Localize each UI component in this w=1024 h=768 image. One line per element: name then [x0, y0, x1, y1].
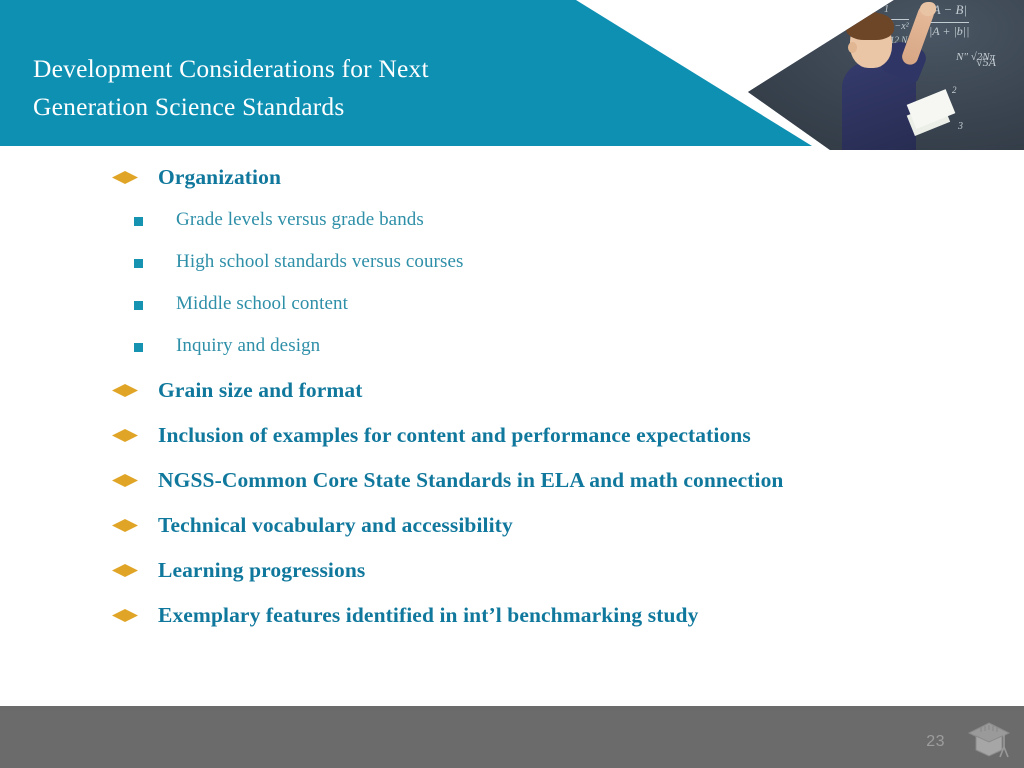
diamond-bullet-icon [112, 384, 138, 397]
square-bullet-icon [134, 301, 143, 310]
bullet-text: NGSS-Common Core State Standards in ELA … [158, 463, 784, 497]
chalk-mark: 3 [958, 122, 963, 132]
diamond-bullet-icon [112, 474, 138, 487]
bullet-item-level2: Inquiry and design [0, 331, 1024, 373]
bullet-text: Organization [158, 160, 281, 194]
diamond-bullet-icon [112, 609, 138, 622]
bullet-text: Grain size and format [158, 373, 363, 407]
bullet-text: Technical vocabulary and accessibility [158, 508, 513, 542]
square-bullet-icon [134, 343, 143, 352]
slide-body-bullet-list: OrganizationGrade levels versus grade ba… [0, 160, 1024, 700]
bullet-text: Exemplary features identified in int’l b… [158, 598, 698, 632]
square-bullet-icon [134, 259, 143, 268]
bullet-item-level1: NGSS-Common Core State Standards in ELA … [0, 463, 1024, 508]
person-hand [920, 2, 936, 16]
chalk-mark: 3z² [787, 16, 800, 30]
bullet-item-level1: Organization [0, 160, 1024, 205]
diamond-bullet-icon [112, 171, 138, 184]
chalk-mark: (x − 32) [736, 6, 782, 20]
bullet-item-level1: Exemplary features identified in int’l b… [0, 598, 1024, 643]
page-title: Development Considerations for Next Gene… [33, 50, 553, 125]
presentation-slide: Development Considerations for Next Gene… [0, 0, 1024, 768]
person-ear [848, 42, 857, 53]
bullet-text: Inquiry and design [176, 331, 320, 360]
bullet-item-level1: Technical vocabulary and accessibility [0, 508, 1024, 553]
diamond-bullet-icon [112, 519, 138, 532]
chalk-mark: 2 [952, 86, 957, 95]
chalk-mark: 2x² +1 [787, 2, 816, 13]
diamond-bullet-icon [112, 564, 138, 577]
slide-header: Development Considerations for Next Gene… [0, 0, 1024, 152]
bullet-text: Learning progressions [158, 553, 365, 587]
bullet-text: Middle school content [176, 289, 348, 318]
chalk-mark: P ( [754, 46, 772, 61]
bullet-item-level1: Inclusion of examples for content and pe… [0, 418, 1024, 463]
chalk-mark: |A + |b|| [929, 22, 969, 37]
chalk-mark: 1 [884, 5, 889, 15]
bullet-item-level1: Grain size and format [0, 373, 1024, 418]
square-bullet-icon [134, 217, 143, 226]
bullet-item-level2: Middle school content [0, 289, 1024, 331]
graduation-cap-logo [966, 720, 1012, 760]
bullet-text: High school standards versus courses [176, 247, 464, 276]
bullet-item-level2: High school standards versus courses [0, 247, 1024, 289]
page-number: 23 [926, 733, 945, 751]
slide-footer: 23 [0, 706, 1024, 768]
bullet-text: Inclusion of examples for content and pe… [158, 418, 751, 452]
diamond-bullet-icon [112, 429, 138, 442]
chalk-mark: √5A [976, 56, 996, 68]
bullet-item-level2: Grade levels versus grade bands [0, 205, 1024, 247]
bullet-text: Grade levels versus grade bands [176, 205, 424, 234]
bullet-item-level1: Learning progressions [0, 553, 1024, 598]
person-hair [846, 12, 894, 40]
